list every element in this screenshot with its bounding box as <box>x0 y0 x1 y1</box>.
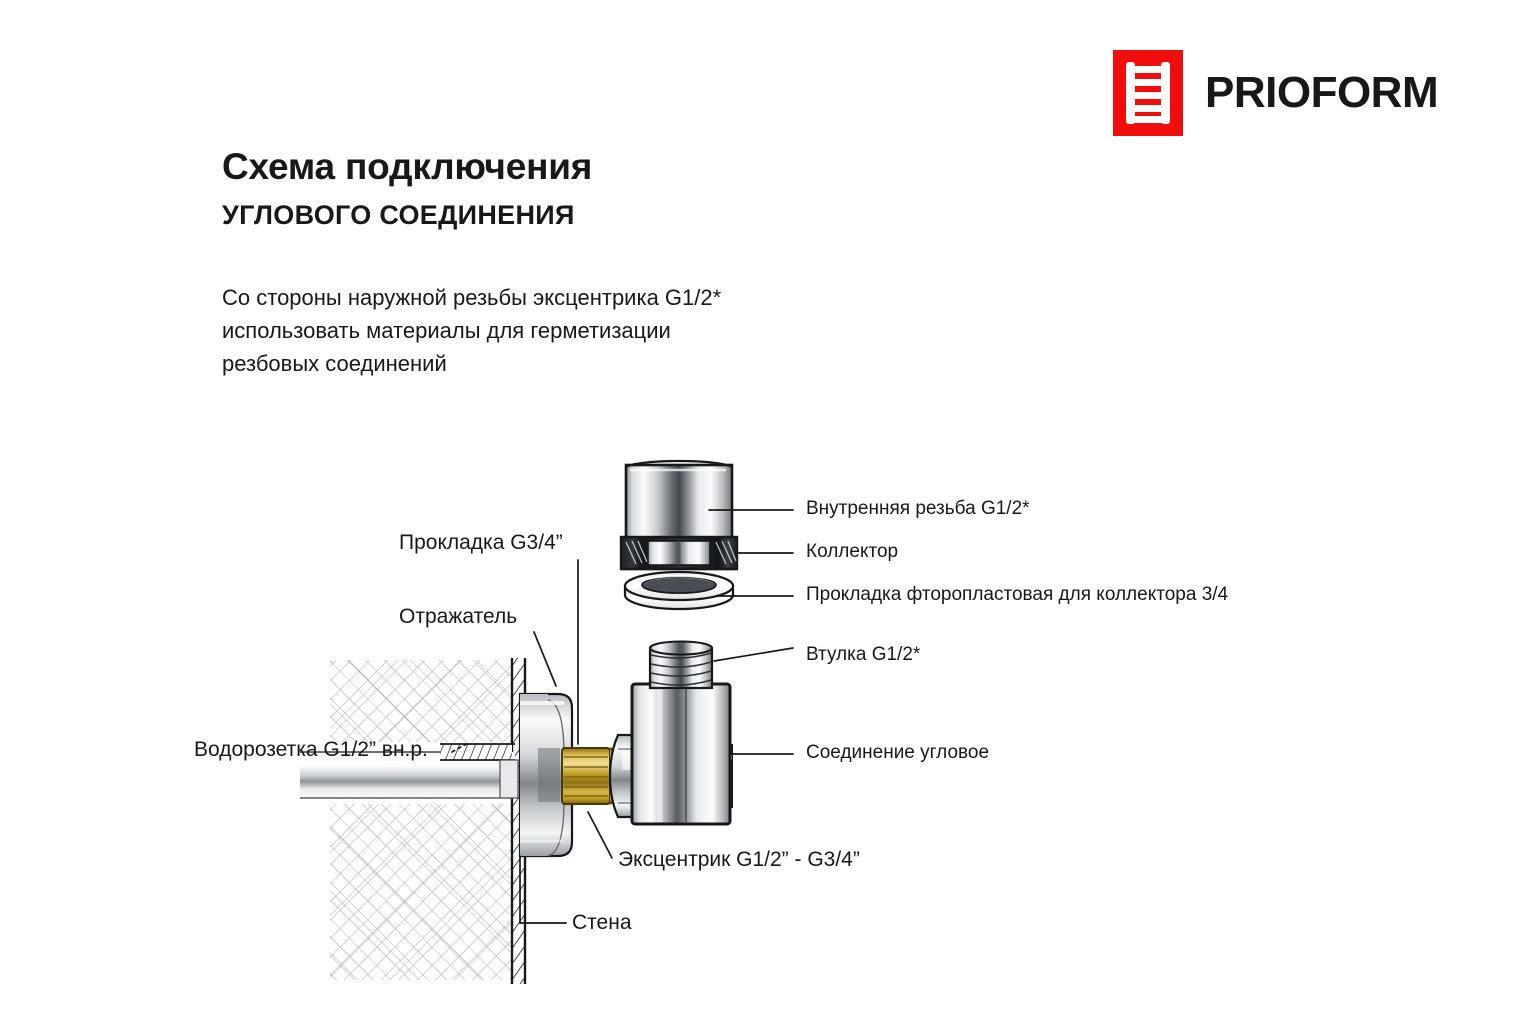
label-eccentric: Эксцентрик G1/2” - G3/4” <box>618 848 860 872</box>
ptfe-gasket-ring <box>625 572 733 609</box>
angle-connection-body <box>632 684 732 824</box>
label-wall: Стена <box>572 911 632 935</box>
collector-cylinder <box>621 461 737 569</box>
label-inner-thread: Внутренняя резьба G1/2* <box>806 498 1030 520</box>
label-angle-connection: Соединение угловое <box>806 742 989 764</box>
bushing-threaded <box>650 642 712 689</box>
label-gasket-g34: Прокладка G3/4” <box>399 531 563 555</box>
label-collector: Коллектор <box>806 541 898 563</box>
label-water-socket: Водорозетка G1/2” вн.р. <box>194 738 428 762</box>
label-bushing: Втулка G1/2* <box>806 644 920 666</box>
label-reflector: Отражатель <box>399 605 517 629</box>
label-ptfe-gasket: Прокладка фторопластовая для коллектора … <box>806 584 1228 606</box>
diagram-page: PRIOFORM Схема подключения УГЛОВОГО СОЕД… <box>0 0 1536 1024</box>
wall-graphic <box>330 658 525 984</box>
